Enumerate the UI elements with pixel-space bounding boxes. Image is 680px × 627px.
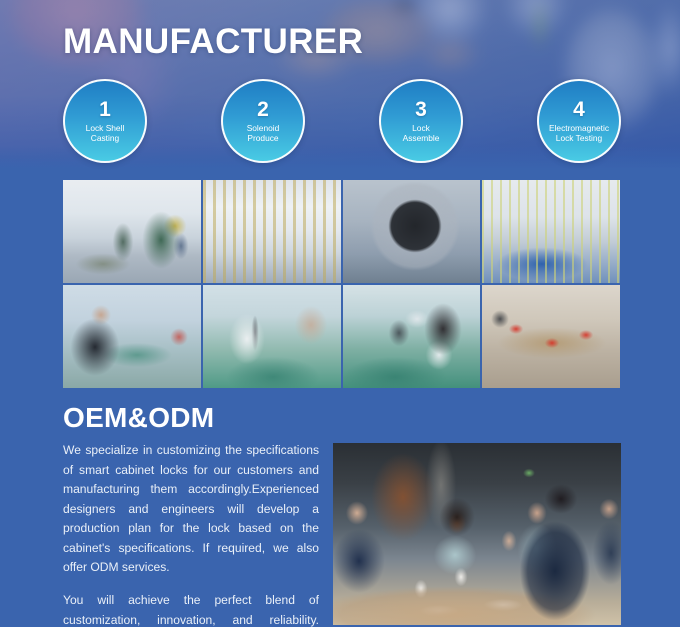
oem-paragraph-1: We specialize in customizing the specifi… (63, 441, 319, 578)
page-title: MANUFACTURER (63, 22, 363, 62)
gallery-tile[interactable] (63, 285, 201, 388)
gallery-tile[interactable] (482, 180, 620, 283)
gallery-tile[interactable] (343, 285, 481, 388)
step-number: 3 (415, 99, 427, 120)
factory-photo-gallery (63, 180, 620, 388)
step-number: 4 (573, 99, 585, 120)
gallery-image (343, 285, 481, 388)
step-badge-3[interactable]: 3 Lock Assemble (379, 79, 463, 163)
business-meeting-photo[interactable] (333, 443, 621, 625)
gallery-tile[interactable] (203, 285, 341, 388)
step-number: 1 (99, 99, 111, 120)
oem-paragraph-2: You will achieve the perfect blend of cu… (63, 591, 319, 627)
gallery-image (63, 285, 201, 388)
step-badge-2[interactable]: 2 Solenoid Produce (221, 79, 305, 163)
gallery-image (482, 285, 620, 388)
gallery-image (203, 285, 341, 388)
step-label: Lock Assemble (400, 123, 443, 144)
gallery-tile[interactable] (63, 180, 201, 283)
step-number: 2 (257, 99, 269, 120)
gallery-tile[interactable] (482, 285, 620, 388)
gallery-image (203, 180, 341, 283)
step-label: Lock Shell Casting (83, 123, 128, 144)
oem-description: We specialize in customizing the specifi… (63, 441, 319, 627)
step-badge-1[interactable]: 1 Lock Shell Casting (63, 79, 147, 163)
step-label: Solenoid Produce (244, 123, 283, 144)
gallery-image (482, 180, 620, 283)
gallery-tile[interactable] (203, 180, 341, 283)
oem-section-title: OEM&ODM (63, 402, 214, 434)
step-label: Electromagnetic Lock Testing (546, 123, 612, 144)
step-badge-4[interactable]: 4 Electromagnetic Lock Testing (537, 79, 621, 163)
manufacturer-hero-banner: MANUFACTURER 1 Lock Shell Casting 2 Sole… (0, 0, 680, 172)
gallery-tile[interactable] (343, 180, 481, 283)
gallery-image (343, 180, 481, 283)
manufacturing-steps: 1 Lock Shell Casting 2 Solenoid Produce … (63, 79, 621, 165)
gallery-image (63, 180, 201, 283)
meeting-image (333, 443, 621, 625)
